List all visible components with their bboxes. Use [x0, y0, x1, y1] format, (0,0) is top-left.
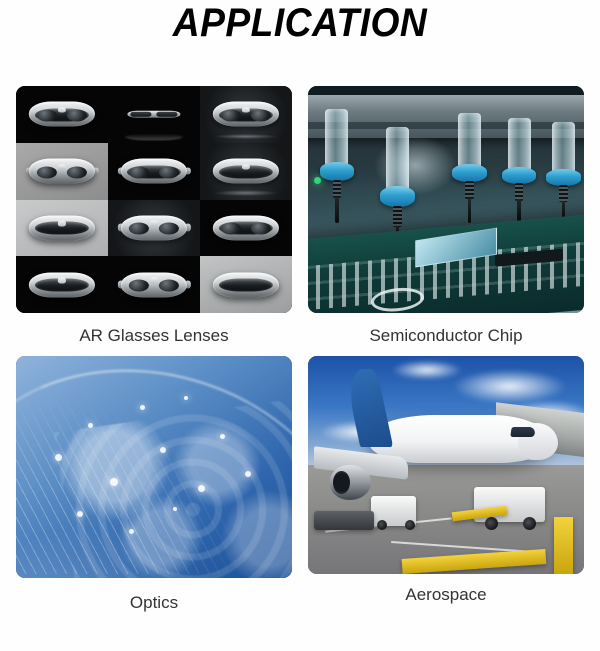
semiconductor-chip-image[interactable]: [308, 86, 584, 313]
ar-grid-cell-7: [16, 200, 108, 257]
card-caption-optics: Optics: [16, 578, 292, 613]
optics-photo: [16, 356, 292, 578]
indicator-led: [314, 177, 321, 184]
card-aerospace[interactable]: Aerospace: [308, 356, 584, 613]
nozzle-1: [319, 109, 355, 227]
chip-photo: [308, 86, 584, 313]
ar-glasses-photo-grid: [16, 86, 292, 313]
cargo-pallet: [314, 511, 375, 531]
card-caption-aerospace: Aerospace: [308, 574, 584, 605]
ar-grid-cell-5: [108, 143, 200, 200]
ar-grid-cell-12: [200, 256, 292, 313]
ar-glasses-image[interactable]: [16, 86, 292, 313]
nozzle-4: [501, 118, 537, 227]
cards-row-2: Optics: [16, 356, 584, 613]
ar-grid-cell-6: [200, 143, 292, 200]
ar-grid-cell-4: [16, 143, 108, 200]
nozzle-5: [545, 122, 581, 226]
aerospace-image[interactable]: [308, 356, 584, 574]
ar-grid-cell-11: [108, 256, 200, 313]
ar-grid-cell-8: [108, 200, 200, 257]
cards-row-1: AR Glasses Lenses: [16, 86, 584, 346]
nozzle-3: [452, 113, 488, 227]
optics-image[interactable]: [16, 356, 292, 578]
circuit-board: [308, 213, 584, 313]
card-ar-glasses-lenses[interactable]: AR Glasses Lenses: [16, 86, 292, 346]
aerospace-photo: [308, 356, 584, 574]
ar-grid-cell-10: [16, 256, 108, 313]
card-caption-semiconductor-chip: Semiconductor Chip: [308, 313, 584, 346]
card-semiconductor-chip[interactable]: Semiconductor Chip: [308, 86, 584, 346]
ar-grid-cell-9: [200, 200, 292, 257]
ar-grid-cell-1: [16, 86, 108, 143]
application-cards-grid: AR Glasses Lenses: [16, 86, 584, 613]
barrier-post: [554, 517, 573, 574]
page-title: APPLICATION: [21, 0, 579, 46]
ar-grid-cell-2: [108, 86, 200, 143]
card-caption-ar-glasses: AR Glasses Lenses: [16, 313, 292, 346]
ar-grid-cell-3: [200, 86, 292, 143]
card-optics[interactable]: Optics: [16, 356, 292, 613]
